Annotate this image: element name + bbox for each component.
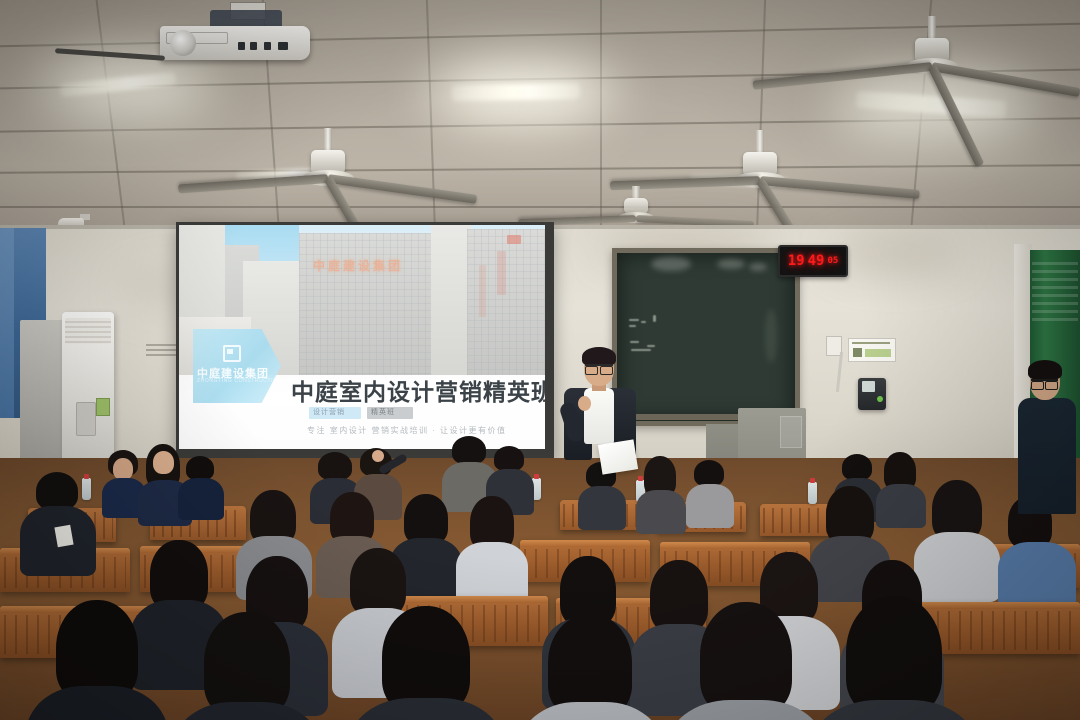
ceiling-fan <box>700 130 820 200</box>
air-conditioner-unit <box>62 312 114 462</box>
safety-notice-sign <box>848 338 896 362</box>
projected-slide: 中庭建设集团 中庭建设集团 ZHONGTING CONSTRUCTION GRO… <box>179 225 545 449</box>
audience-person-raised-arm <box>378 444 412 472</box>
air-conditioner-label <box>96 398 110 416</box>
presenter <box>556 350 640 482</box>
slide-photo-led-text: 中庭建设集团 <box>313 257 403 274</box>
slide-logo-mark-icon <box>223 345 241 362</box>
access-card-reader[interactable] <box>858 378 886 410</box>
presenter-hand <box>578 396 591 411</box>
standing-observer <box>1016 364 1078 514</box>
presenter-papers <box>598 439 638 474</box>
slide-subtitle: 专注 室内设计 营销实战培训 · 让设计更有价值 <box>307 425 507 436</box>
standing-observer-hair <box>1028 360 1062 380</box>
ceiling <box>0 0 1080 235</box>
water-bottle <box>82 478 91 500</box>
projection-screen: 中庭建设集团 中庭建设集团 ZHONGTING CONSTRUCTION GRO… <box>176 222 554 458</box>
ceiling-fan <box>268 128 388 198</box>
water-bottle <box>808 482 817 504</box>
glasses-icon <box>585 364 613 373</box>
presenter-shirt <box>584 388 614 444</box>
slide-badge-primary-label: 设计营销 <box>313 407 345 419</box>
digital-led-clock: 19 49 05 <box>778 245 848 277</box>
clock-seconds: 05 <box>827 256 838 266</box>
slide-title: 中庭室内设计营销精英班 <box>291 373 545 407</box>
clock-minutes: 49 <box>808 253 825 269</box>
ceiling-fan <box>872 16 992 86</box>
lecture-hall-photo: 中庭建设集团 中庭建设集团 ZHONGTING CONSTRUCTION GRO… <box>0 0 1080 720</box>
slide-logo-en: ZHONGTING CONSTRUCTION GROUP <box>197 378 305 384</box>
clock-hours: 19 <box>788 253 805 269</box>
chalkboard <box>612 248 800 426</box>
glasses-icon <box>1031 379 1058 388</box>
gray-cabinet <box>20 320 66 466</box>
projector-lens-icon <box>170 30 196 56</box>
slide-badge-secondary-label: 精英班 <box>371 407 395 419</box>
standing-observer-body <box>1018 398 1076 514</box>
blue-wall-panel-edge <box>0 228 14 418</box>
ceiling-projector <box>160 8 310 66</box>
